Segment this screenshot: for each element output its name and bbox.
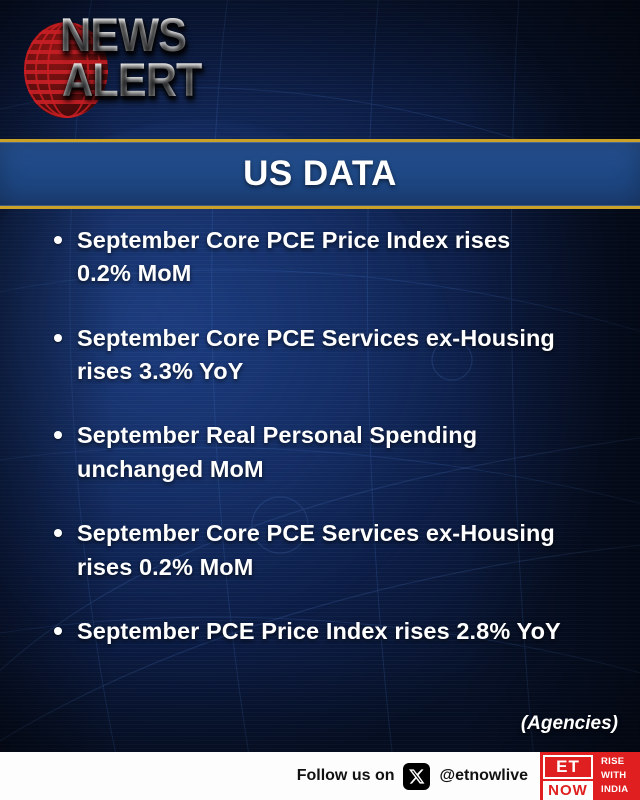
list-item-text: September Core PCE Services ex-Housing r… — [77, 322, 569, 389]
etnow-tagline: RISE WITH INDIA — [596, 752, 640, 800]
list-item: September Core PCE Price Index rises 0.2… — [54, 224, 610, 291]
title-banner: US DATA — [0, 139, 640, 209]
list-item: September Real Personal Spending unchang… — [54, 419, 610, 486]
follow-us-label: Follow us on — [297, 767, 395, 785]
page-title: US DATA — [243, 154, 397, 194]
etnow-logo[interactable]: ET NOW ETNOW.IN RISE WITH INDIA — [540, 752, 640, 800]
bullet-dot-icon — [54, 334, 62, 342]
footer-bar: Follow us on @etnowlive ET NOW ETNOW.IN … — [0, 752, 640, 800]
etnow-logo-marks: ET NOW ETNOW.IN — [540, 752, 596, 800]
list-item-text: September PCE Price Index rises 2.8% YoY — [77, 615, 561, 648]
social-handle[interactable]: @etnowlive — [439, 767, 528, 785]
list-item-text: September Core PCE Price Index rises 0.2… — [77, 224, 569, 291]
x-twitter-icon[interactable] — [403, 763, 430, 790]
etnow-et-text: ET — [543, 755, 593, 779]
attribution-text: (Agencies) — [521, 713, 618, 735]
tagline-line-1: RISE — [601, 755, 640, 769]
alert-word-news: NEWS — [60, 14, 201, 55]
bullet-dot-icon — [54, 236, 62, 244]
bullet-dot-icon — [54, 627, 62, 635]
list-item: September Core PCE Services ex-Housing r… — [54, 517, 610, 584]
list-item: September PCE Price Index rises 2.8% YoY — [54, 615, 610, 648]
news-alert-logo: NEWS ALERT — [22, 14, 322, 126]
list-item-text: September Real Personal Spending unchang… — [77, 419, 569, 486]
headline-list: September Core PCE Price Index rises 0.2… — [54, 224, 610, 679]
list-item: September Core PCE Services ex-Housing r… — [54, 322, 610, 389]
etnow-now-text: NOW — [543, 781, 593, 800]
tagline-line-2: WITH — [601, 769, 640, 783]
alert-word-alert: ALERT — [62, 59, 202, 100]
bullet-dot-icon — [54, 431, 62, 439]
list-item-text: September Core PCE Services ex-Housing r… — [77, 517, 569, 584]
news-alert-card: NEWS ALERT US DATA September Core PCE Pr… — [0, 0, 640, 800]
tagline-line-3: INDIA — [601, 783, 640, 797]
bullet-dot-icon — [54, 529, 62, 537]
